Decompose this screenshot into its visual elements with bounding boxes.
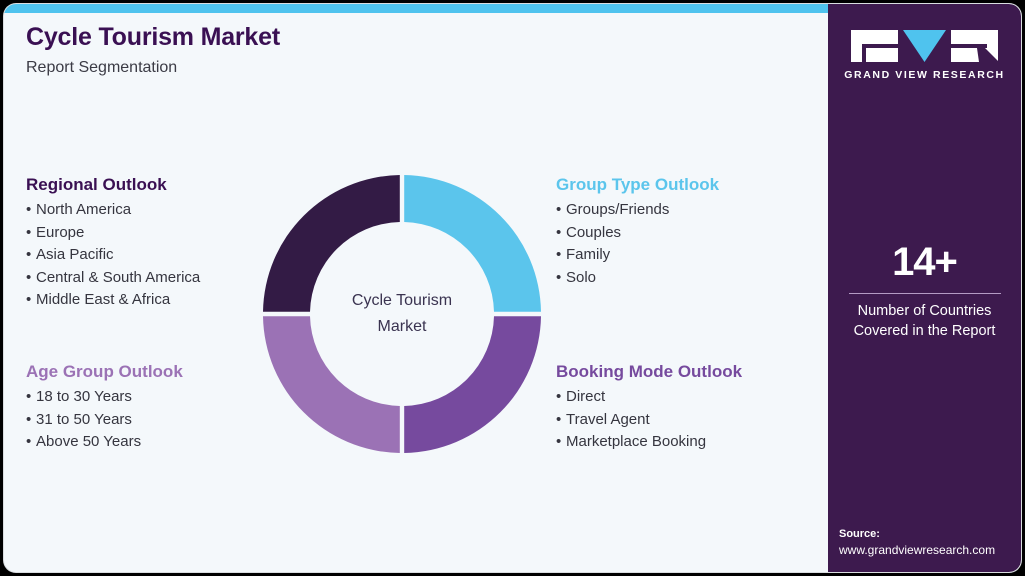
list-item-label: Groups/Friends <box>566 201 669 218</box>
bullet-icon: • <box>26 386 36 409</box>
bullet-icon: • <box>26 222 36 245</box>
page-title: Cycle Tourism Market <box>26 24 626 52</box>
list-item: •Solo <box>556 267 719 290</box>
list-item: •North America <box>26 199 200 222</box>
list-item: •Marketplace Booking <box>556 431 742 454</box>
gvr-logo: GRAND VIEW RESEARCH <box>828 30 1021 81</box>
segment-regional-outlook: Regional Outlook •North America •Europe … <box>26 174 200 312</box>
logo-caption: GRAND VIEW RESEARCH <box>844 69 1005 81</box>
gvr-logo-marks <box>851 30 998 62</box>
list-item-label: Middle East & Africa <box>36 291 170 308</box>
list-item: •Europe <box>26 222 200 245</box>
list-item: •Middle East & Africa <box>26 289 200 312</box>
bullet-icon: • <box>556 431 566 454</box>
donut-slice-booking-mode[interactable] <box>404 316 541 453</box>
bullet-icon: • <box>556 244 566 267</box>
stat-label-line2: Covered in the Report <box>828 322 1021 342</box>
bullet-icon: • <box>556 222 566 245</box>
segment-list-booking-mode: •Direct •Travel Agent •Marketplace Booki… <box>556 386 742 454</box>
donut-slice-regional[interactable] <box>263 175 400 312</box>
donut-slice-age-group[interactable] <box>263 316 400 453</box>
bullet-icon: • <box>26 267 36 290</box>
list-item-label: Above 50 Years <box>36 433 141 450</box>
donut-chart-svg <box>263 172 541 456</box>
list-item: •Travel Agent <box>556 409 742 432</box>
bullet-icon: • <box>26 409 36 432</box>
list-item-label: Direct <box>566 388 605 405</box>
bullet-icon: • <box>556 386 566 409</box>
brand-sidebar: GRAND VIEW RESEARCH 14+ Number of Countr… <box>828 4 1021 572</box>
list-item: •18 to 30 Years <box>26 386 183 409</box>
segment-booking-mode-outlook: Booking Mode Outlook •Direct •Travel Age… <box>556 361 742 454</box>
list-item: •Couples <box>556 222 719 245</box>
bullet-icon: • <box>556 409 566 432</box>
infographic-root: Cycle Tourism Market Report Segmentation… <box>0 0 1025 576</box>
list-item: •Groups/Friends <box>556 199 719 222</box>
bullet-icon: • <box>556 199 566 222</box>
segment-age-group-outlook: Age Group Outlook •18 to 30 Years •31 to… <box>26 361 183 454</box>
bullet-icon: • <box>26 199 36 222</box>
source-title: Source: <box>839 526 1021 543</box>
logo-g-icon <box>851 30 898 62</box>
segment-list-age-group: •18 to 30 Years •31 to 50 Years •Above 5… <box>26 386 183 454</box>
list-item: •Family <box>556 244 719 267</box>
list-item: •31 to 50 Years <box>26 409 183 432</box>
list-item-label: Asia Pacific <box>36 246 114 263</box>
bullet-icon: • <box>26 244 36 267</box>
donut-slice-group-type[interactable] <box>404 175 541 312</box>
list-item-label: Europe <box>36 224 84 241</box>
list-item: •Above 50 Years <box>26 431 183 454</box>
list-item-label: Central & South America <box>36 269 200 286</box>
segment-heading-regional: Regional Outlook <box>26 174 200 195</box>
bullet-icon: • <box>26 431 36 454</box>
list-item-label: Solo <box>566 269 596 286</box>
source-url[interactable]: www.grandviewresearch.com <box>839 542 1021 559</box>
list-item: •Direct <box>556 386 742 409</box>
segment-list-group-type: •Groups/Friends •Couples •Family •Solo <box>556 199 719 289</box>
segment-heading-group-type: Group Type Outlook <box>556 174 719 195</box>
segment-heading-age-group: Age Group Outlook <box>26 361 183 382</box>
stat-divider <box>849 293 1001 294</box>
donut-chart: Cycle Tourism Market <box>263 172 541 456</box>
list-item-label: 18 to 30 Years <box>36 388 132 405</box>
stat-label-line1: Number of Countries <box>828 302 1021 322</box>
stat-label: Number of Countries Covered in the Repor… <box>828 302 1021 341</box>
bullet-icon: • <box>556 267 566 290</box>
stat-countries: 14+ Number of Countries Covered in the R… <box>828 242 1021 341</box>
list-item: •Central & South America <box>26 267 200 290</box>
top-accent-bar <box>4 4 828 13</box>
list-item-label: Couples <box>566 224 621 241</box>
segment-group-type-outlook: Group Type Outlook •Groups/Friends •Coup… <box>556 174 719 289</box>
logo-v-triangle-icon <box>903 30 946 62</box>
bullet-icon: • <box>26 289 36 312</box>
list-item-label: 31 to 50 Years <box>36 411 132 428</box>
logo-r-icon <box>951 30 998 62</box>
page-subtitle: Report Segmentation <box>26 58 626 77</box>
list-item-label: Family <box>566 246 610 263</box>
list-item: •Asia Pacific <box>26 244 200 267</box>
content-card: Cycle Tourism Market Report Segmentation… <box>4 4 1021 572</box>
segment-heading-booking-mode: Booking Mode Outlook <box>556 361 742 382</box>
header: Cycle Tourism Market Report Segmentation <box>26 24 626 77</box>
list-item-label: North America <box>36 201 131 218</box>
segment-list-regional: •North America •Europe •Asia Pacific •Ce… <box>26 199 200 312</box>
list-item-label: Marketplace Booking <box>566 433 706 450</box>
source-block: Source: www.grandviewresearch.com <box>839 526 1021 559</box>
stat-value: 14+ <box>828 242 1021 282</box>
list-item-label: Travel Agent <box>566 411 650 428</box>
